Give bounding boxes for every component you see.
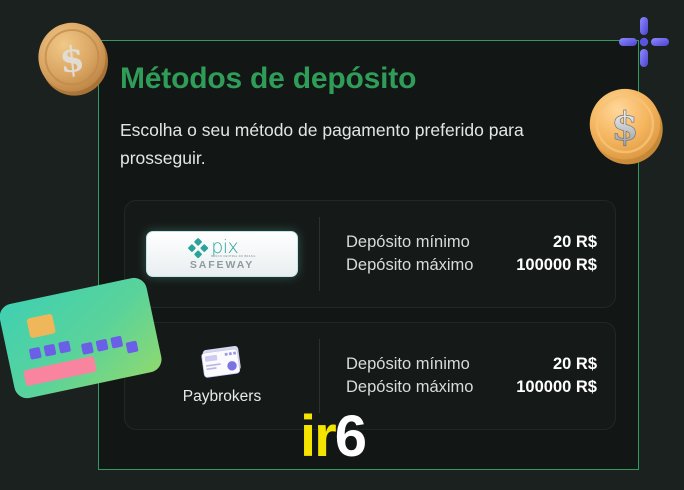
svg-text:$: $ [611, 104, 638, 150]
max-deposit-line: Depósito máximo 100000 R$ [346, 256, 597, 275]
min-deposit-line: Depósito mínimo 20 R$ [346, 233, 597, 252]
method-name-label: Paybrokers [183, 388, 261, 406]
min-deposit-value: 20 R$ [553, 355, 597, 374]
watermark-part-b: 6 [335, 404, 365, 469]
max-deposit-label: Depósito máximo [346, 378, 473, 397]
min-deposit-value: 20 R$ [553, 233, 597, 252]
pix-wordmark: pix [211, 238, 256, 256]
pix-wordmark-group: pix BANCO CENTRAL DO BRASIL [211, 238, 256, 258]
plus-sparkle-icon [616, 14, 672, 70]
pix-logo-row: pix BANCO CENTRAL DO BRASIL [188, 238, 256, 258]
max-deposit-label: Depósito máximo [346, 256, 473, 275]
pix-diamond-icon [188, 238, 208, 258]
max-deposit-value: 100000 R$ [516, 378, 597, 397]
deposit-method-row-pix[interactable]: pix BANCO CENTRAL DO BRASIL SAFEWAY Depó… [124, 200, 616, 308]
max-deposit-line: Depósito máximo 100000 R$ [346, 378, 597, 397]
deposit-methods-list: pix BANCO CENTRAL DO BRASIL SAFEWAY Depó… [124, 200, 616, 444]
watermark-part-a: ir [300, 404, 335, 469]
min-deposit-line: Depósito mínimo 20 R$ [346, 355, 597, 374]
watermark-overlay: ir6 [300, 408, 365, 466]
max-deposit-value: 100000 R$ [516, 256, 597, 275]
bank-card-icon [199, 343, 245, 381]
min-deposit-label: Depósito mínimo [346, 233, 470, 252]
page-subtitle: Escolha o seu método de pagamento prefer… [120, 116, 590, 172]
method-limits: Depósito mínimo 20 R$ Depósito máximo 10… [320, 355, 615, 397]
pix-tagline: BANCO CENTRAL DO BRASIL [211, 255, 256, 258]
coin-dollar-icon: $ [32, 18, 112, 98]
coin-dollar-icon: $ [584, 84, 666, 166]
min-deposit-label: Depósito mínimo [346, 355, 470, 374]
deposit-method-row-paybrokers[interactable]: Paybrokers Depósito mínimo 20 R$ Depósit… [124, 322, 616, 430]
page-title: Métodos de depósito [120, 62, 416, 96]
svg-text:$: $ [58, 38, 87, 81]
credit-card-illustration [0, 268, 170, 408]
method-limits: Depósito mínimo 20 R$ Depósito máximo 10… [320, 233, 615, 275]
safeway-brand-label: SAFEWAY [190, 259, 254, 271]
